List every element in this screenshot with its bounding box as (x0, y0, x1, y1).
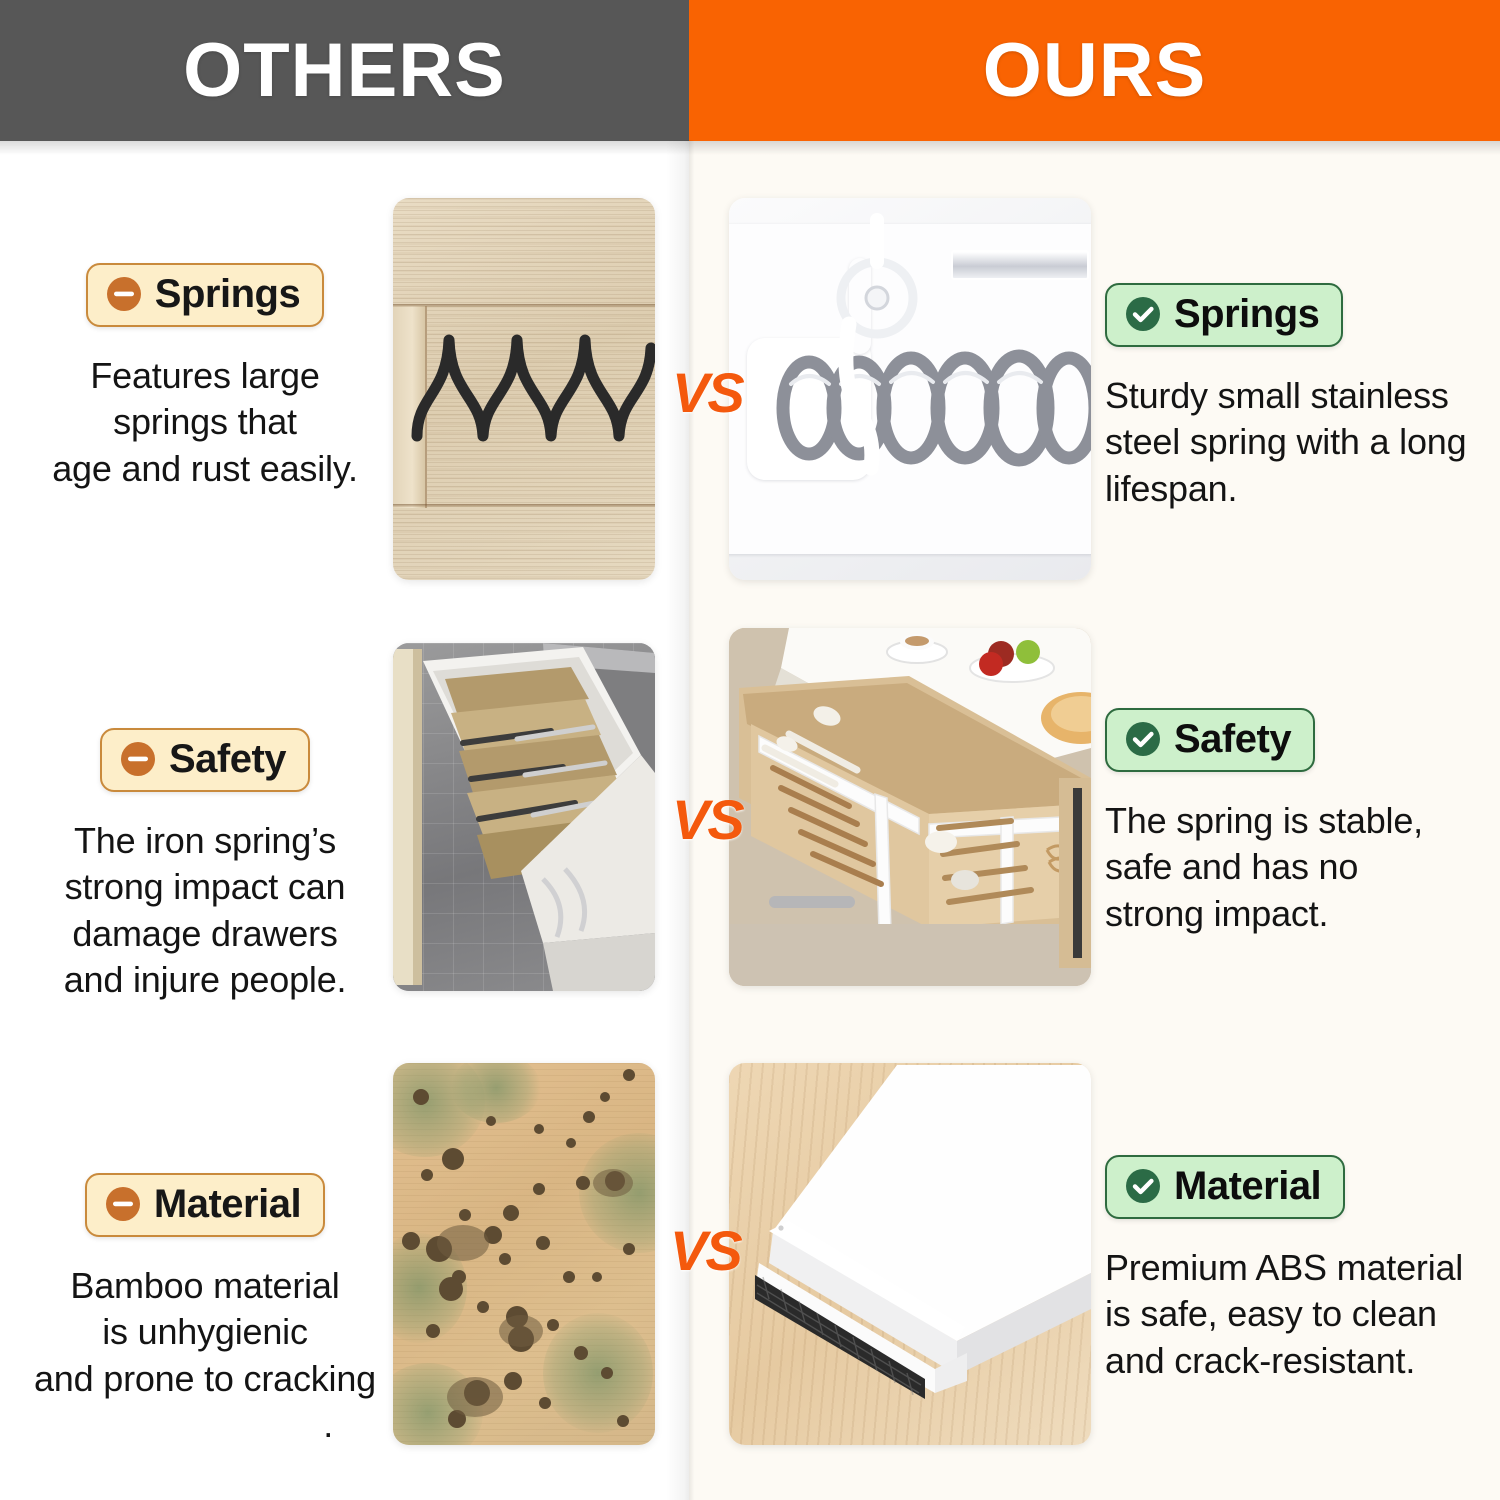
body-line: The iron spring’s (25, 818, 385, 864)
con-text-springs: Springs Features large springs that age … (25, 263, 385, 492)
pro-badge-springs: Springs (1105, 283, 1343, 347)
body-line: and prone to cracking (25, 1356, 385, 1402)
photo-others-spring (393, 198, 655, 580)
con-text-safety: Safety The iron spring’s strong impact c… (25, 728, 385, 1004)
row-springs: Springs Features large springs that age … (0, 185, 1500, 605)
pro-badge-label: Safety (1174, 719, 1291, 759)
row-material: Material Bamboo material is unhygienic a… (0, 1045, 1500, 1465)
pro-text-springs: Springs Sturdy small stainless steel spr… (1105, 283, 1485, 512)
con-body-safety: The iron spring’s strong impact can dama… (25, 818, 385, 1004)
pro-body-material: Premium ABS material is safe, easy to cl… (1105, 1245, 1485, 1384)
organized-drawer-illustration (729, 628, 1091, 986)
con-badge-label: Safety (169, 739, 286, 779)
black-spring-shape (393, 198, 655, 580)
body-line-trailing-period: . (25, 1402, 385, 1448)
minus-circle-icon (104, 274, 144, 314)
body-line: Sturdy small stainless (1105, 373, 1485, 419)
body-line: Features large (25, 353, 385, 399)
body-line: Bamboo material (25, 1263, 385, 1309)
body-line: steel spring with a long (1105, 419, 1485, 465)
body-line: and crack-resistant. (1105, 1338, 1485, 1384)
body-line: Premium ABS material (1105, 1245, 1485, 1291)
pro-text-material: Material Premium ABS material is safe, e… (1105, 1155, 1485, 1384)
con-text-material: Material Bamboo material is unhygienic a… (25, 1173, 385, 1449)
con-badge-material: Material (85, 1173, 325, 1237)
vs-marker-material: VS (670, 1223, 741, 1279)
body-line: strong impact. (1105, 891, 1485, 937)
header-bar: OTHERS OURS (0, 0, 1500, 141)
vs-marker-safety: VS (672, 792, 743, 848)
body-line: lifespan. (1105, 466, 1485, 512)
con-badge-label: Material (154, 1184, 301, 1224)
con-body-springs: Features large springs that age and rust… (25, 353, 385, 492)
minus-circle-icon (118, 739, 158, 779)
body-line: The spring is stable, (1105, 798, 1485, 844)
pro-badge-material: Material (1105, 1155, 1345, 1219)
pro-text-safety: Safety The spring is stable, safe and ha… (1105, 708, 1485, 937)
con-badge-label: Springs (155, 274, 300, 314)
abs-organizer-illustration (729, 1063, 1091, 1445)
check-circle-icon (1123, 1166, 1163, 1206)
pro-badge-label: Material (1174, 1166, 1321, 1206)
body-line: is safe, easy to clean (1105, 1291, 1485, 1337)
body-line: damage drawers (25, 911, 385, 957)
photo-ours-abs-organizer (729, 1063, 1091, 1445)
check-circle-icon (1123, 294, 1163, 334)
body-line: strong impact can (25, 864, 385, 910)
pro-badge-safety: Safety (1105, 708, 1315, 772)
photo-ours-drawer (729, 628, 1091, 986)
pro-badge-label: Springs (1174, 294, 1319, 334)
vs-marker-springs: VS (672, 365, 743, 421)
photo-ours-spring (729, 198, 1091, 580)
body-line: safe and has no (1105, 844, 1485, 890)
con-badge-safety: Safety (100, 728, 310, 792)
pro-body-safety: The spring is stable, safe and has no st… (1105, 798, 1485, 937)
header-ours-title: OURS (983, 33, 1207, 109)
check-circle-icon (1123, 719, 1163, 759)
coil-spring-shape (729, 198, 1091, 580)
header-others-title: OTHERS (183, 33, 506, 109)
header-others: OTHERS (0, 0, 689, 141)
body-line: springs that (25, 399, 385, 445)
mold-spots (393, 1063, 655, 1445)
drawer-illustration (393, 643, 655, 991)
con-badge-springs: Springs (86, 263, 324, 327)
pro-body-springs: Sturdy small stainless steel spring with… (1105, 373, 1485, 512)
header-ours: OURS (689, 0, 1500, 141)
minus-circle-icon (103, 1184, 143, 1224)
body-line: and injure people. (25, 957, 385, 1003)
con-body-material: Bamboo material is unhygienic and prone … (25, 1263, 385, 1449)
row-safety: Safety The iron spring’s strong impact c… (0, 620, 1500, 1040)
photo-others-bamboo (393, 1063, 655, 1445)
photo-others-drawer (393, 643, 655, 991)
body-line: age and rust easily. (25, 446, 385, 492)
comparison-infographic: OTHERS OURS Springs Features large sprin… (0, 0, 1500, 1500)
body-line: is unhygienic (25, 1309, 385, 1355)
